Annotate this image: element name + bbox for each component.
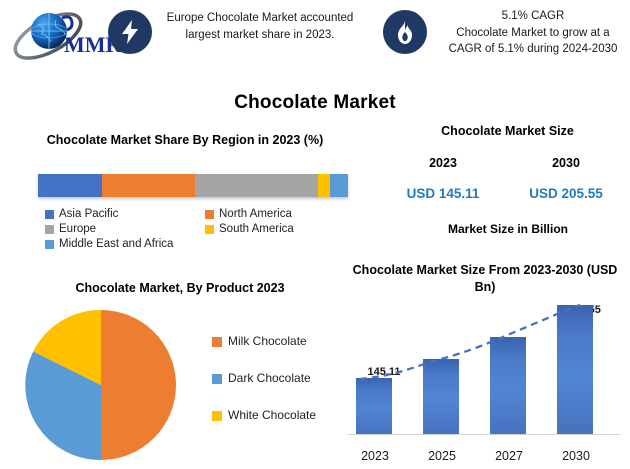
stack-segment-south-america (318, 174, 330, 197)
legend-item-white-chocolate: White Chocolate (212, 408, 352, 423)
market-size-year-2030: 2030 (520, 156, 612, 170)
stack-segment-europe (195, 174, 318, 197)
stack-segment-north-america (102, 174, 195, 197)
legend-item-north-america: North America (205, 208, 355, 220)
stack-segment-middle-east-africa (330, 174, 348, 197)
column-chart: 145.11 205.55 2023 2025 2027 2030 (340, 290, 625, 465)
legend-swatch-icon (205, 225, 214, 234)
legend-label: Europe (59, 223, 96, 235)
market-size-value-2030: USD 205.55 (512, 186, 620, 201)
legend-item-europe: Europe (45, 223, 205, 235)
legend-item-asia-pacific: Asia Pacific (45, 208, 205, 220)
flame-icon (383, 10, 427, 54)
legend-item-middle-east-africa: Middle East and Africa (45, 238, 205, 250)
header-highlight-2: 5.1% CAGR Chocolate Market to grow at a … (440, 8, 626, 58)
column-xlabel-2027: 2027 (480, 449, 538, 463)
legend-swatch-icon (212, 374, 222, 384)
legend-label: North America (219, 208, 292, 220)
cagr-description: Chocolate Market to grow at a CAGR of 5.… (440, 25, 626, 58)
column-xlabel-2025: 2025 (413, 449, 471, 463)
page-title: Chocolate Market (0, 92, 630, 114)
column-xlabel-2023: 2023 (346, 449, 404, 463)
market-size-year-2023: 2023 (400, 156, 486, 170)
product-chart-title: Chocolate Market, By Product 2023 (20, 281, 340, 295)
product-legend: Milk Chocolate Dark Chocolate White Choc… (212, 334, 352, 445)
legend-item-dark-chocolate: Dark Chocolate (212, 371, 352, 386)
market-size-value-2023: USD 145.11 (392, 186, 494, 201)
region-legend: Asia Pacific North America Europe South … (45, 208, 355, 250)
market-size-title: Chocolate Market Size (400, 124, 615, 138)
legend-label: Dark Chocolate (228, 371, 311, 386)
infographic-canvas: MMR Europe Chocolate Market accounted la… (0, 0, 630, 469)
column-xlabel-2030: 2030 (547, 449, 605, 463)
legend-label: White Chocolate (228, 408, 316, 423)
legend-label: Milk Chocolate (228, 334, 307, 349)
legend-swatch-icon (45, 210, 54, 219)
legend-item-south-america: South America (205, 223, 355, 235)
legend-swatch-icon (45, 240, 54, 249)
legend-swatch-icon (205, 210, 214, 219)
stack-segment-asia-pacific (38, 174, 102, 197)
legend-label: Asia Pacific (59, 208, 118, 220)
legend-label: Middle East and Africa (59, 238, 173, 250)
product-pie-chart (22, 306, 180, 464)
legend-swatch-icon (45, 225, 54, 234)
pie-slice-milk-chocolate (101, 310, 176, 460)
legend-label: South America (219, 223, 294, 235)
column-axis-line (348, 434, 620, 435)
cagr-headline: 5.1% CAGR (440, 8, 626, 25)
legend-swatch-icon (212, 411, 222, 421)
lightning-bolt-icon (108, 10, 152, 54)
market-size-footer: Market Size in Billion (398, 222, 618, 236)
trend-line (340, 290, 625, 465)
region-stacked-bar (38, 174, 348, 197)
legend-item-milk-chocolate: Milk Chocolate (212, 334, 352, 349)
region-chart-title: Chocolate Market Share By Region in 2023… (10, 133, 360, 147)
legend-swatch-icon (212, 337, 222, 347)
header-highlight-1: Europe Chocolate Market accounted larges… (160, 10, 360, 43)
